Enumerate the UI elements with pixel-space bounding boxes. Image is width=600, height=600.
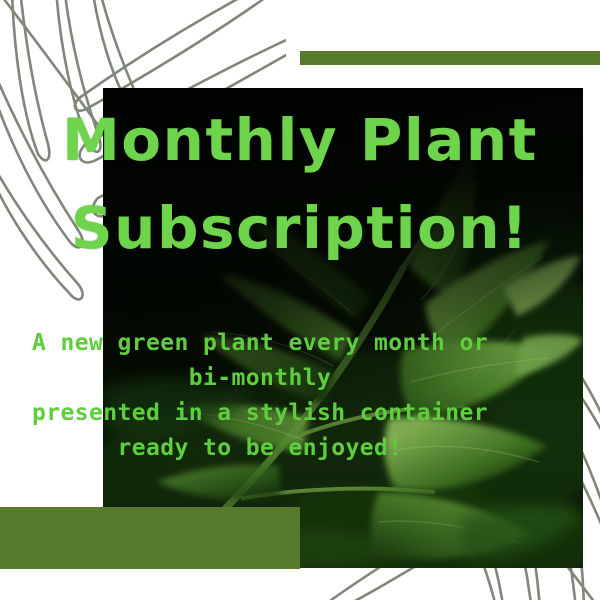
subcopy-line-3: presented in a stylish container [0,396,520,431]
poster-canvas: Monthly Plant Subscription! A new green … [0,0,600,600]
subcopy-line-1: A new green plant every month or [0,326,520,361]
page-title: Monthly Plant Subscription! [40,96,560,272]
subcopy-line-2: bi-monthly [0,361,520,396]
text-layer: Monthly Plant Subscription! A new green … [0,0,600,600]
subcopy-block: A new green plant every month or bi-mont… [0,326,520,466]
subcopy-line-4: ready to be enjoyed! [0,431,520,466]
